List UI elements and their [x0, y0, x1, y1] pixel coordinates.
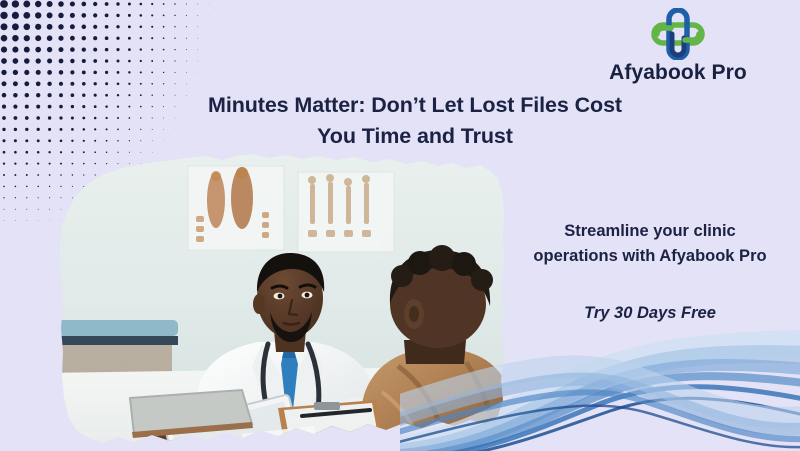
headline-line-1: Minutes Matter: Don’t Let Lost Files Cos…	[100, 90, 730, 121]
page-headline: Minutes Matter: Don’t Let Lost Files Cos…	[100, 90, 730, 151]
subcopy-line-1: Streamline your clinic	[505, 219, 795, 244]
subcopy-line-2: operations with Afyabook Pro	[505, 244, 795, 269]
medical-cross-interlocking-rings-logo	[651, 8, 705, 60]
hero-photo	[46, 152, 516, 451]
marketing-banner: Afyabook Pro Minutes Matter: Don’t Let L…	[0, 0, 800, 451]
brand-logo-block[interactable]: Afyabook Pro	[578, 8, 778, 85]
headline-line-2: You Time and Trust	[100, 121, 730, 152]
value-proposition-text: Streamline your clinic operations with A…	[505, 219, 795, 269]
cta-text[interactable]: Try 30 Days Free	[505, 304, 795, 323]
brand-name: Afyabook Pro	[578, 61, 778, 85]
